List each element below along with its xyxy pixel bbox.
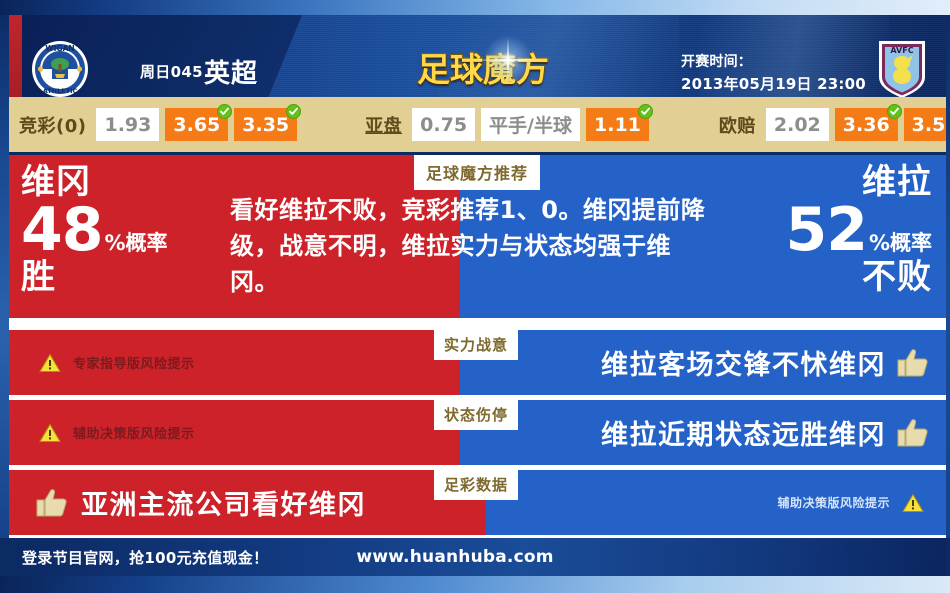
odds-cell[interactable]: 3.35 bbox=[234, 108, 297, 141]
row1-category-tab: 实力战意 bbox=[434, 330, 518, 360]
right-edge-rail bbox=[946, 15, 950, 538]
row2-left-panel: 辅助决策版风险提示 bbox=[9, 400, 460, 465]
thumbs-up-icon bbox=[35, 487, 69, 518]
warning-icon bbox=[39, 353, 61, 373]
match-header: WIGAN ATHLETIC 周日045 英超 足球魔方 开赛时间： 2013年… bbox=[9, 15, 946, 97]
brand-logo-text: 足球魔方 bbox=[417, 43, 549, 91]
footer-bar: 登录节目官网，抢100元充值现金！ www.huanhuba.com bbox=[9, 538, 946, 576]
odds-group-asian-handicap: 亚盘 0.75 平手/半球 1.11 bbox=[355, 97, 655, 152]
odds-value: 1.93 bbox=[104, 114, 151, 136]
row3-right-panel: 辅助决策版风险提示 bbox=[486, 470, 946, 535]
wigan-athletic-crest-icon: WIGAN ATHLETIC bbox=[31, 40, 89, 97]
row1-right-panel: 维拉客场交锋不怵维冈 bbox=[460, 330, 946, 395]
away-percent-value: 52 bbox=[785, 202, 867, 259]
recommendation-tab-label: 足球魔方推荐 bbox=[414, 155, 540, 190]
recommendation-text: 看好维拉不败，竞彩推荐1、0。维冈提前降级，战意不明，维拉实力与状态均强于维冈。 bbox=[230, 192, 710, 300]
odds-cell[interactable]: 1.93 bbox=[96, 108, 159, 141]
row1-statement: 维拉客场交锋不怵维冈 bbox=[601, 330, 930, 395]
odds-value: 2.02 bbox=[774, 114, 821, 136]
risk-note-left: 专家指导版风险提示 bbox=[39, 330, 195, 395]
risk-note-left: 辅助决策版风险提示 bbox=[39, 400, 195, 465]
odds-value: 0.75 bbox=[420, 114, 467, 136]
odds-cell[interactable]: 3.36 bbox=[835, 108, 898, 141]
divider bbox=[9, 318, 946, 330]
away-percent-row: 52 %概率 bbox=[785, 202, 932, 259]
svg-text:ATHLETIC: ATHLETIC bbox=[43, 87, 78, 95]
odds-value: 3.36 bbox=[843, 114, 890, 136]
left-edge-rail bbox=[0, 15, 9, 538]
away-percent-unit: %概率 bbox=[869, 233, 932, 254]
odds-bar: 竞彩(0) 1.93 3.65 3.35 亚盘 0.75 bbox=[9, 97, 946, 152]
home-probability-text: 维冈 48 %概率 胜 bbox=[21, 165, 168, 294]
away-outcome: 不败 bbox=[785, 260, 932, 295]
bottom-gradient-strip bbox=[0, 576, 950, 593]
row3-statement: 亚洲主流公司看好维冈 bbox=[35, 470, 366, 535]
thumbs-up-icon bbox=[896, 347, 930, 378]
match-number: 周日045 bbox=[140, 61, 203, 82]
odds-group-label: 亚盘 bbox=[355, 112, 412, 138]
check-icon bbox=[638, 104, 653, 119]
row3-category-tab: 足彩数据 bbox=[434, 470, 518, 500]
odds-cell[interactable]: 1.11 bbox=[586, 108, 649, 141]
check-icon bbox=[286, 104, 301, 119]
thumbs-up-icon bbox=[896, 417, 930, 448]
odds-cell-handicap[interactable]: 平手/半球 bbox=[481, 108, 580, 141]
risk-note-right: 辅助决策版风险提示 bbox=[777, 470, 924, 535]
odds-value: 3.35 bbox=[242, 114, 289, 136]
kickoff-block: 开赛时间： 2013年05月19日 23:00 bbox=[681, 51, 866, 95]
odds-group-jingcai: 竞彩(0) 1.93 3.65 3.35 bbox=[9, 97, 303, 152]
footer-promo-text: 登录节目官网，抢100元充值现金！ bbox=[22, 547, 268, 568]
odds-value: 3.65 bbox=[173, 114, 220, 136]
kickoff-label: 开赛时间： bbox=[681, 51, 866, 73]
odds-value: 3.54 bbox=[912, 114, 950, 136]
league-name: 英超 bbox=[204, 53, 258, 90]
row1-left-panel: 专家指导版风险提示 bbox=[9, 330, 460, 395]
home-outcome: 胜 bbox=[21, 260, 168, 295]
risk-note-text: 专家指导版风险提示 bbox=[73, 353, 195, 372]
footer-website-url[interactable]: www.huanhuba.com bbox=[356, 547, 553, 567]
home-percent-row: 48 %概率 bbox=[21, 202, 168, 259]
row2-statement-text: 维拉近期状态远胜维冈 bbox=[601, 413, 886, 452]
top-gradient-strip bbox=[0, 0, 950, 15]
svg-text:AVFC: AVFC bbox=[890, 46, 913, 55]
warning-icon bbox=[39, 423, 61, 443]
row2-statement: 维拉近期状态远胜维冈 bbox=[601, 400, 930, 465]
row2-right-panel: 维拉近期状态远胜维冈 bbox=[460, 400, 946, 465]
broadcast-match-preview-graphic: WIGAN ATHLETIC 周日045 英超 足球魔方 开赛时间： 2013年… bbox=[0, 0, 950, 593]
home-percent-value: 48 bbox=[21, 202, 103, 259]
odds-group-label: 竞彩(0) bbox=[9, 112, 96, 138]
home-percent-unit: %概率 bbox=[105, 233, 168, 254]
check-icon bbox=[887, 104, 902, 119]
away-probability-text: 维拉 52 %概率 不败 bbox=[785, 165, 932, 294]
svg-text:WIGAN: WIGAN bbox=[45, 44, 74, 53]
odds-value: 1.11 bbox=[594, 114, 641, 136]
check-icon bbox=[217, 104, 232, 119]
odds-value: 平手/半球 bbox=[489, 111, 572, 138]
row3-left-panel: 亚洲主流公司看好维冈 bbox=[9, 470, 486, 535]
brand-logo-zuqiumofang: 足球魔方 bbox=[417, 43, 557, 89]
header-red-accent bbox=[9, 15, 22, 97]
risk-note-text: 辅助决策版风险提示 bbox=[73, 423, 195, 442]
risk-note-text: 辅助决策版风险提示 bbox=[777, 494, 890, 511]
odds-cell[interactable]: 3.65 bbox=[165, 108, 228, 141]
aston-villa-crest-icon: AVFC bbox=[876, 38, 928, 97]
odds-cell[interactable]: 0.75 bbox=[412, 108, 475, 141]
odds-cell[interactable]: 2.02 bbox=[766, 108, 829, 141]
row2-category-tab: 状态伤停 bbox=[434, 400, 518, 430]
row1-statement-text: 维拉客场交锋不怵维冈 bbox=[601, 343, 886, 382]
kickoff-time: 2013年05月19日 23:00 bbox=[681, 73, 866, 95]
odds-cell[interactable]: 3.54 bbox=[904, 108, 950, 141]
row3-statement-text: 亚洲主流公司看好维冈 bbox=[81, 483, 366, 522]
warning-icon bbox=[902, 493, 924, 513]
odds-group-label: 欧赔 bbox=[709, 112, 766, 138]
odds-group-european: 欧赔 2.02 3.36 3.54 bbox=[709, 97, 950, 152]
